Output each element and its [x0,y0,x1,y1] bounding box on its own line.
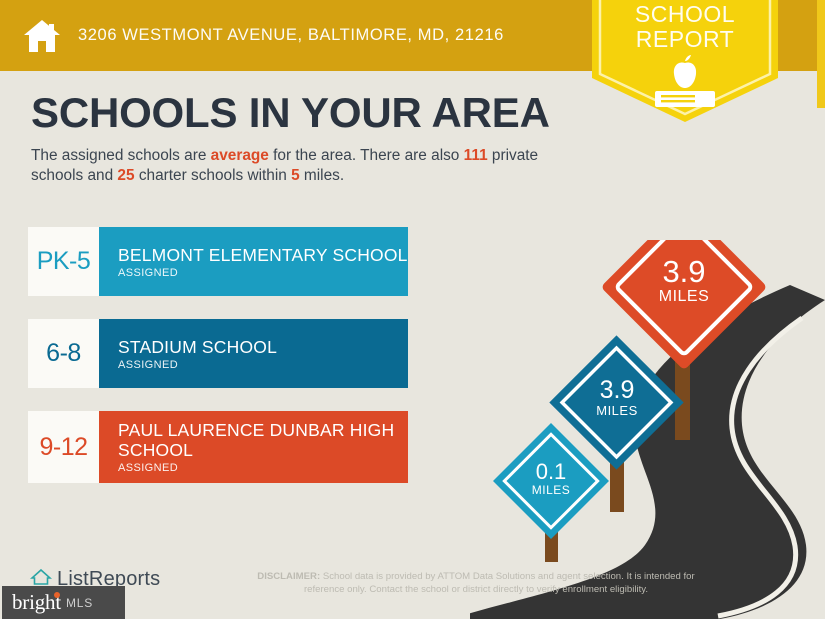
summary-part-4: charter schools within [135,167,292,184]
summary-part-5: miles. [300,167,344,184]
book-icon [655,91,715,107]
distance-signs-illustration: 0.1 MILES 3.9 MILES 3.9 MILES [470,240,825,619]
school-info: BELMONT ELEMENTARY SCHOOL ASSIGNED [99,227,408,296]
charter-school-count: 25 [117,167,134,184]
summary-part-2: for the area. There are also [269,147,464,164]
disclaimer-label: DISCLAIMER: [257,571,320,582]
grade-range-badge: 6-8 [28,319,99,388]
assigned-schools-list: PK-5 BELMONT ELEMENTARY SCHOOL ASSIGNED … [28,227,408,506]
page-title: SCHOOLS IN YOUR AREA [31,92,550,134]
search-radius-miles: 5 [291,167,300,184]
property-address: 3206 WESTMONT AVENUE, BALTIMORE, MD, 212… [78,26,504,45]
school-status: ASSIGNED [118,267,408,279]
school-info: STADIUM SCHOOL ASSIGNED [99,319,408,388]
bright-mls-suffix: MLS [66,596,93,610]
disclaimer-text: DISCLAIMER: School data is provided by A… [236,570,716,596]
school-row-high[interactable]: 9-12 PAUL LAURENCE DUNBAR HIGH SCHOOL AS… [28,411,408,483]
school-name: STADIUM SCHOOL [118,337,408,357]
disclaimer-body: School data is provided by ATTOM Data So… [304,571,695,595]
home-icon [22,18,62,54]
school-row-elementary[interactable]: PK-5 BELMONT ELEMENTARY SCHOOL ASSIGNED [28,227,408,296]
bright-mls-dot [54,592,60,598]
school-status: ASSIGNED [118,359,408,371]
school-report-badge: SCHOOL REPORT [592,0,778,122]
private-school-count: 111 [464,147,488,164]
school-row-middle[interactable]: 6-8 STADIUM SCHOOL ASSIGNED [28,319,408,388]
summary-text: The assigned schools are average for the… [31,146,591,186]
header-right-stripe [817,0,825,108]
school-report-infographic: 3206 WESTMONT AVENUE, BALTIMORE, MD, 212… [0,0,825,619]
school-name: PAUL LAURENCE DUNBAR HIGH SCHOOL [118,420,408,460]
bright-mls-brand: bright [12,590,61,615]
school-status: ASSIGNED [118,462,408,474]
school-name: BELMONT ELEMENTARY SCHOOL [118,245,408,265]
header-content: 3206 WESTMONT AVENUE, BALTIMORE, MD, 212… [22,0,504,71]
school-info: PAUL LAURENCE DUNBAR HIGH SCHOOL ASSIGNE… [99,411,408,483]
bright-mls-logo[interactable]: bright MLS [2,586,125,619]
grade-range-badge: 9-12 [28,411,99,483]
school-rating-value: average [211,147,269,164]
grade-range-badge: PK-5 [28,227,99,296]
summary-part-1: The assigned schools are [31,147,211,164]
